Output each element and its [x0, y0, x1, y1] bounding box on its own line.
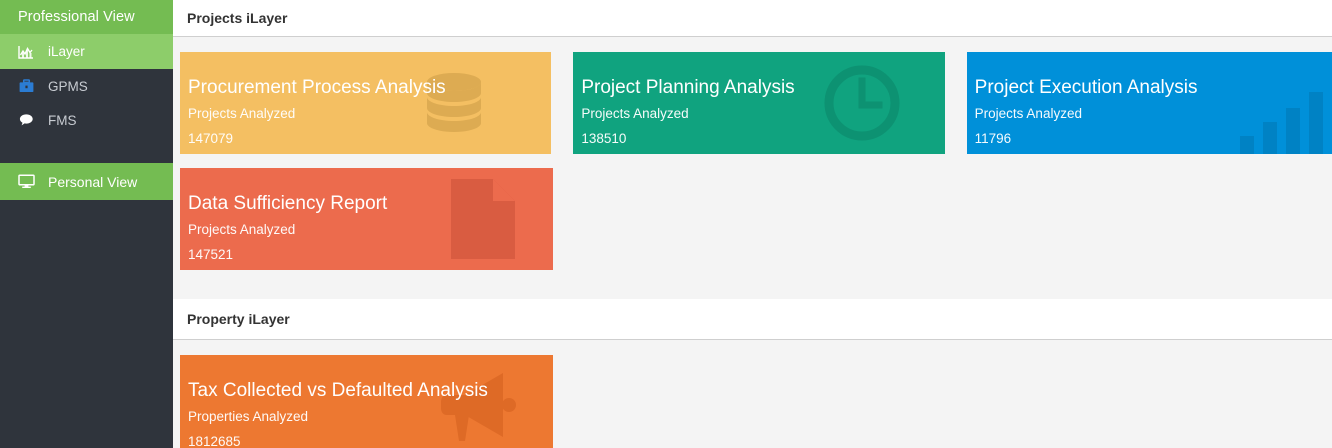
tile-value: 1812685	[188, 434, 241, 448]
tile-value: 147079	[188, 131, 233, 146]
tile-row-3: Tax Collected vs Defaulted Analysis Prop…	[180, 355, 1332, 448]
tile-procurement-process-analysis[interactable]: Procurement Process Analysis Projects An…	[180, 52, 551, 154]
sidebar-personal-view-label: Personal View	[48, 174, 137, 190]
sidebar-item-label-gpms: GPMS	[48, 79, 88, 94]
tile-subtitle: Projects Analyzed	[975, 106, 1082, 121]
tile-title: Data Sufficiency Report	[188, 193, 387, 215]
tile-data-sufficiency-report[interactable]: Data Sufficiency Report Projects Analyze…	[180, 168, 553, 270]
chart-line-icon	[16, 44, 36, 60]
tile-subtitle: Projects Analyzed	[581, 106, 688, 121]
tile-row-2: Data Sufficiency Report Projects Analyze…	[180, 168, 1332, 284]
tile-subtitle: Projects Analyzed	[188, 222, 295, 237]
tile-value: 138510	[581, 131, 626, 146]
section-header-projects-ilayer: Projects iLayer	[173, 0, 1332, 37]
tile-tax-collected-vs-defaulted-analysis[interactable]: Tax Collected vs Defaulted Analysis Prop…	[180, 355, 553, 448]
tile-title: Project Execution Analysis	[975, 77, 1198, 99]
sidebar-gap	[0, 137, 173, 163]
tile-subtitle: Projects Analyzed	[188, 106, 295, 121]
tile-project-execution-analysis[interactable]: Project Execution Analysis Projects Anal…	[967, 52, 1332, 154]
tile-row-1: Procurement Process Analysis Projects An…	[180, 52, 1332, 168]
tile-subtitle: Properties Analyzed	[188, 409, 308, 424]
sidebar-section-professional-view: Professional View	[0, 0, 173, 34]
tile-title: Project Planning Analysis	[581, 77, 794, 99]
tile-value: 147521	[188, 247, 233, 262]
tile-value: 11796	[975, 131, 1012, 146]
sidebar-item-label-ilayer: iLayer	[48, 44, 85, 59]
sidebar-item-gpms[interactable]: GPMS	[0, 69, 173, 103]
database-icon	[415, 52, 545, 154]
bar-chart-icon	[1232, 52, 1332, 154]
clock-icon	[819, 52, 939, 154]
section-header-property-ilayer: Property iLayer	[173, 299, 1332, 340]
sidebar-item-label-fms: FMS	[48, 113, 77, 128]
main-content: Projects iLayer	[173, 0, 1332, 448]
sidebar: Professional View iLayer	[0, 0, 173, 448]
tiles-property-ilayer: Tax Collected vs Defaulted Analysis Prop…	[173, 340, 1332, 448]
desktop-icon	[16, 174, 36, 190]
app-root: Professional View iLayer	[0, 0, 1332, 448]
sidebar-item-ilayer[interactable]: iLayer	[0, 34, 173, 69]
file-document-icon	[447, 168, 547, 270]
sidebar-item-fms[interactable]: FMS	[0, 103, 173, 137]
comment-icon	[16, 112, 36, 128]
tile-title: Tax Collected vs Defaulted Analysis	[188, 380, 488, 402]
sidebar-section-personal-view[interactable]: Personal View	[0, 163, 173, 200]
tiles-projects-ilayer: Procurement Process Analysis Projects An…	[173, 37, 1332, 284]
briefcase-icon	[16, 78, 36, 94]
tile-project-planning-analysis[interactable]: Project Planning Analysis Projects Analy…	[573, 52, 944, 154]
tile-title: Procurement Process Analysis	[188, 77, 446, 99]
